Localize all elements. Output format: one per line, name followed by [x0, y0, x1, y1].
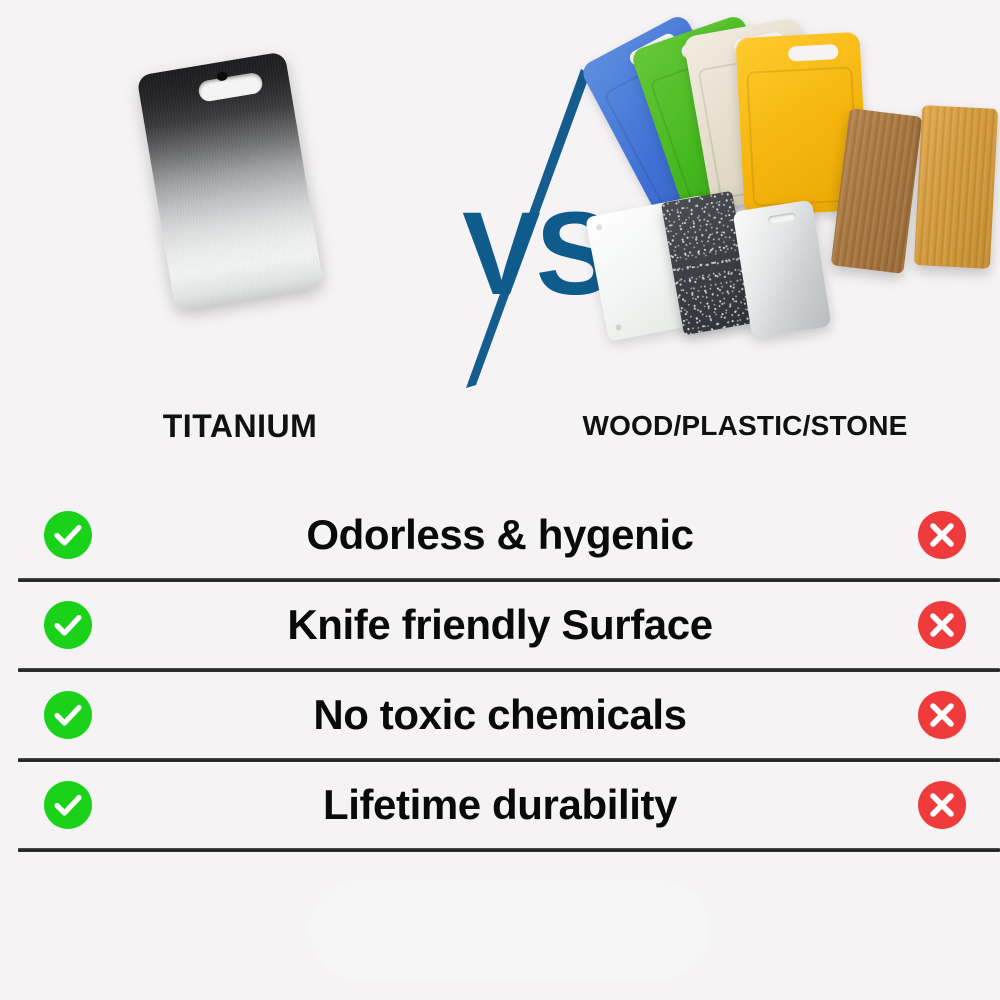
alternatives-label: WOOD/PLASTIC/STONE: [525, 410, 965, 442]
alternatives-cross-cell: [918, 691, 966, 739]
titanium-label: TITANIUM: [60, 408, 420, 445]
check-circle-icon: [44, 781, 92, 829]
alternatives-cross-cell: [918, 781, 966, 829]
feature-label: Lifetime durability: [110, 781, 890, 829]
versus-text: VS: [462, 195, 609, 313]
corner-dot: [615, 324, 622, 331]
titanium-cutting-board-icon: [136, 51, 323, 310]
board-handle-slot: [768, 212, 797, 224]
comparison-table: Odorless & hygenic Knife friendly Surfac…: [0, 492, 1000, 852]
wood-board-light-icon: [914, 105, 998, 269]
table-row: Knife friendly Surface: [0, 582, 1000, 668]
titanium-check-cell: [44, 781, 92, 829]
check-circle-icon: [44, 601, 92, 649]
cross-circle-icon: [918, 781, 966, 829]
titanium-check-cell: [44, 601, 92, 649]
alternatives-cross-cell: [918, 511, 966, 559]
titanium-check-cell: [44, 511, 92, 559]
board-handle-slot: [788, 44, 839, 62]
corner-dot: [596, 224, 603, 231]
cross-circle-icon: [918, 691, 966, 739]
alternatives-cross-cell: [918, 601, 966, 649]
table-row: No toxic chemicals: [0, 672, 1000, 758]
table-row: Odorless & hygenic: [0, 492, 1000, 578]
titanium-check-cell: [44, 691, 92, 739]
feature-label: Odorless & hygenic: [110, 511, 890, 559]
product-comparison-hero: VS TITANIUM WOOD/PLASTIC/STONE: [0, 0, 1000, 470]
cross-circle-icon: [918, 511, 966, 559]
feature-label: Knife friendly Surface: [110, 601, 890, 649]
check-circle-icon: [44, 691, 92, 739]
check-circle-icon: [44, 511, 92, 559]
background-watermark-shape: [310, 880, 710, 980]
feature-label: No toxic chemicals: [110, 691, 890, 739]
cross-circle-icon: [918, 601, 966, 649]
wood-grain-texture: [914, 105, 998, 269]
row-divider: [18, 848, 1000, 852]
table-row: Lifetime durability: [0, 762, 1000, 848]
